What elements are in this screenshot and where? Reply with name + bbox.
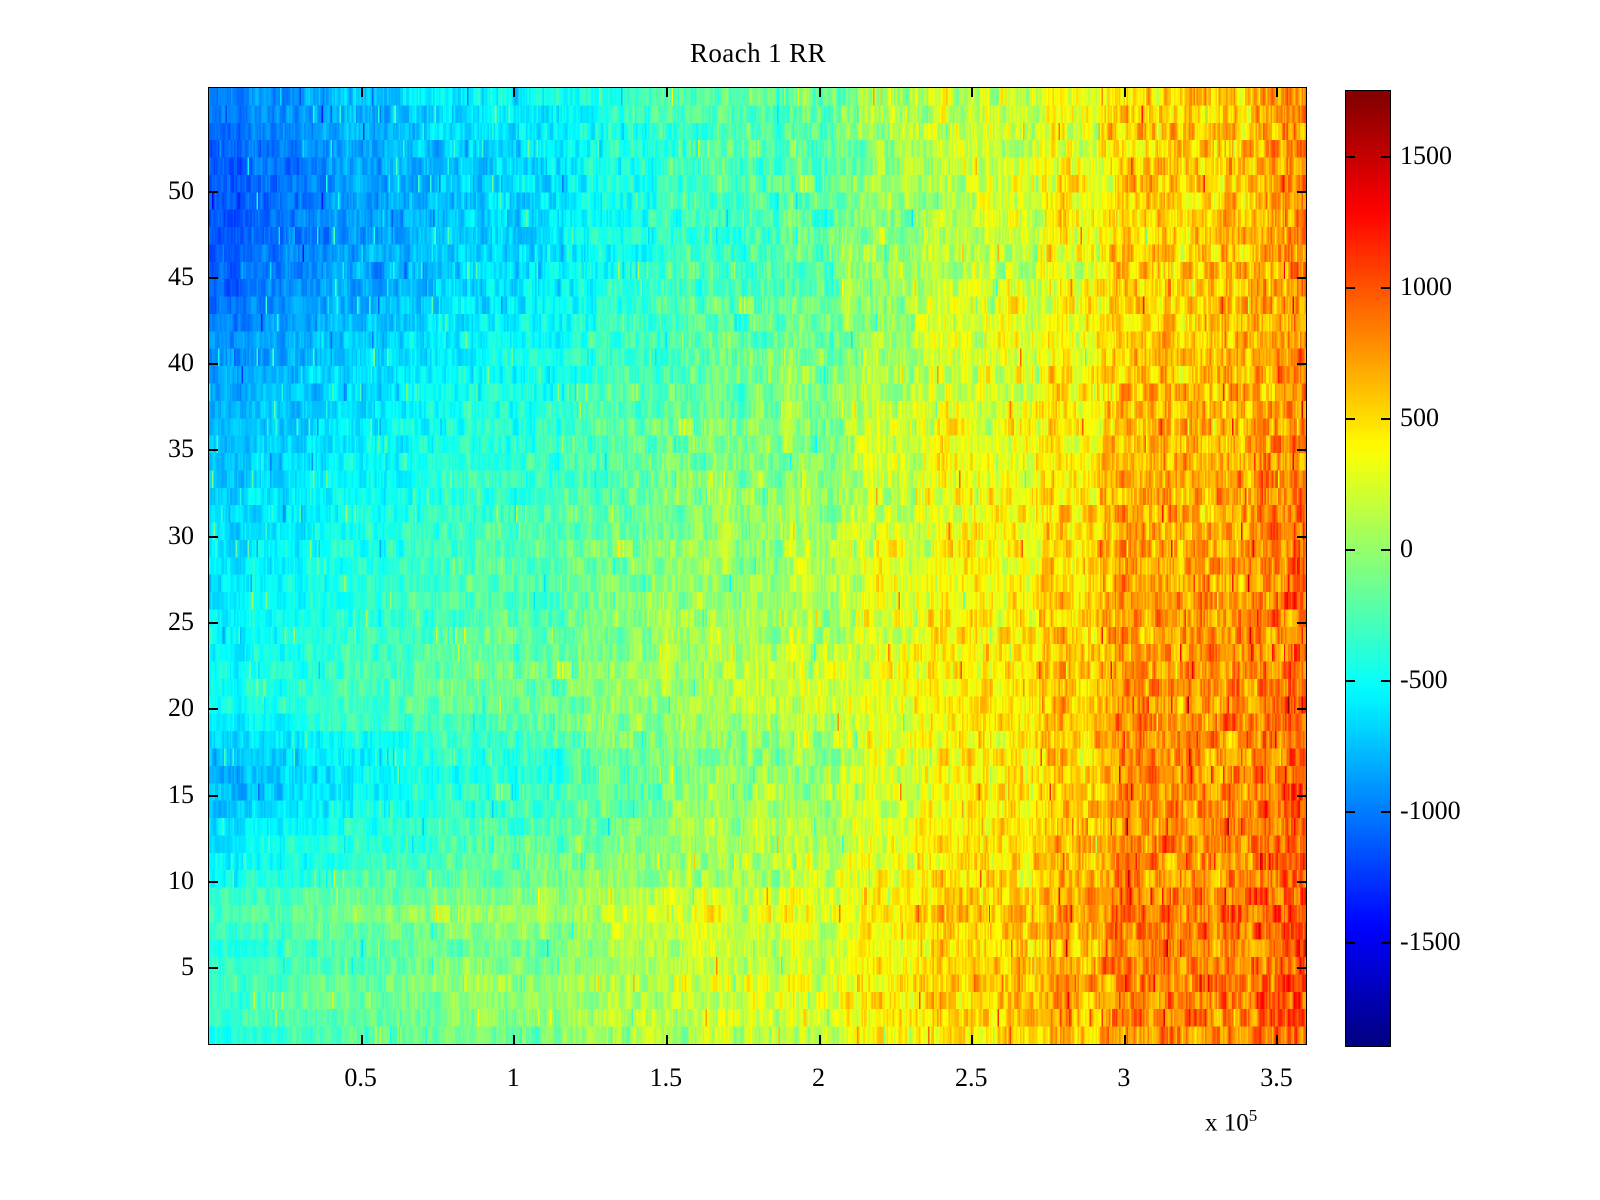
colorbar-tick-mark: [1346, 680, 1355, 682]
y-axis-tick-mark-right: [1297, 277, 1307, 279]
y-axis-tick-mark: [208, 449, 218, 451]
colorbar-tick-mark: [1346, 418, 1355, 420]
colorbar-tick-mark: [1346, 549, 1355, 551]
colorbar-tick-mark: [1346, 811, 1355, 813]
x-axis-tick-mark-top: [666, 87, 668, 97]
colorbar-tick-label: 1000: [1400, 272, 1452, 302]
x-axis-tick-mark-top: [1276, 87, 1278, 97]
colorbar-tick-mark: [1346, 156, 1355, 158]
x-axis-tick-mark: [513, 1035, 515, 1045]
x-axis-tick-mark-top: [971, 87, 973, 97]
y-axis-tick-mark-right: [1297, 191, 1307, 193]
x-axis-tick-label: 1.5: [606, 1063, 726, 1093]
x-axis-tick-mark-top: [361, 87, 363, 97]
colorbar-tick-mark-right: [1381, 418, 1390, 420]
y-axis-tick-mark-right: [1297, 622, 1307, 624]
page-title: Roach 1 RR: [208, 38, 1308, 69]
y-axis-tick-mark-right: [1297, 449, 1307, 451]
colorbar-tick-label: 1500: [1400, 141, 1452, 171]
x-axis-tick-mark-top: [1124, 87, 1126, 97]
y-axis-tick-label: 5: [124, 952, 194, 982]
x-axis-tick-label: 2: [759, 1063, 879, 1093]
y-axis-tick-mark-right: [1297, 708, 1307, 710]
x-exponent-power: 5: [1249, 1106, 1258, 1125]
x-axis-tick-mark-top: [513, 87, 515, 97]
x-axis-tick-mark: [666, 1035, 668, 1045]
y-axis-tick-mark: [208, 363, 218, 365]
colorbar-tick-mark-right: [1381, 156, 1390, 158]
y-axis-tick-mark-right: [1297, 795, 1307, 797]
x-axis-exponent-label: x 105: [1205, 1106, 1257, 1137]
y-axis-tick-label: 35: [124, 434, 194, 464]
y-axis-tick-label: 15: [124, 780, 194, 810]
y-axis-tick-mark: [208, 881, 218, 883]
y-axis-tick-mark-right: [1297, 536, 1307, 538]
x-axis-tick-mark: [1276, 1035, 1278, 1045]
y-axis-tick-mark-right: [1297, 967, 1307, 969]
heatmap-image: [209, 88, 1306, 1044]
x-axis-tick-label: 2.5: [911, 1063, 1031, 1093]
x-axis-tick-mark: [1124, 1035, 1126, 1045]
x-axis-tick-mark: [819, 1035, 821, 1045]
x-axis-tick-mark: [361, 1035, 363, 1045]
y-axis-tick-mark-right: [1297, 881, 1307, 883]
colorbar-tick-mark-right: [1381, 942, 1390, 944]
colorbar-tick-label: -500: [1400, 665, 1448, 695]
colorbar-tick-mark-right: [1381, 680, 1390, 682]
x-axis-tick-mark-top: [819, 87, 821, 97]
x-axis-tick-label: 1: [453, 1063, 573, 1093]
y-axis-tick-mark: [208, 191, 218, 193]
colorbar-tick-mark-right: [1381, 811, 1390, 813]
colorbar[interactable]: [1345, 90, 1391, 1047]
colorbar-gradient: [1346, 91, 1390, 1046]
colorbar-tick-label: -1500: [1400, 927, 1461, 957]
figure-canvas: Roach 1 RR 51015202530354045500.511.522.…: [0, 0, 1600, 1200]
y-axis-tick-mark: [208, 536, 218, 538]
y-axis-tick-label: 40: [124, 348, 194, 378]
y-axis-tick-label: 45: [124, 262, 194, 292]
x-axis-tick-label: 3: [1064, 1063, 1184, 1093]
y-axis-tick-mark: [208, 795, 218, 797]
colorbar-tick-mark-right: [1381, 287, 1390, 289]
y-axis-tick-mark-right: [1297, 363, 1307, 365]
colorbar-tick-mark: [1346, 287, 1355, 289]
x-exponent-mantissa: x 10: [1205, 1109, 1249, 1136]
y-axis-tick-label: 50: [124, 176, 194, 206]
colorbar-tick-label: -1000: [1400, 796, 1461, 826]
y-axis-tick-mark: [208, 277, 218, 279]
y-axis-tick-label: 25: [124, 607, 194, 637]
colorbar-tick-label: 500: [1400, 403, 1439, 433]
colorbar-tick-label: 0: [1400, 534, 1413, 564]
y-axis-tick-label: 20: [124, 693, 194, 723]
heatmap-plot-area[interactable]: [208, 87, 1307, 1045]
x-axis-tick-label: 3.5: [1216, 1063, 1336, 1093]
x-axis-tick-mark: [971, 1035, 973, 1045]
y-axis-tick-mark: [208, 967, 218, 969]
y-axis-tick-label: 10: [124, 866, 194, 896]
y-axis-tick-mark: [208, 622, 218, 624]
colorbar-tick-mark-right: [1381, 549, 1390, 551]
y-axis-tick-label: 30: [124, 521, 194, 551]
x-axis-tick-label: 0.5: [301, 1063, 421, 1093]
colorbar-tick-mark: [1346, 942, 1355, 944]
y-axis-tick-mark: [208, 708, 218, 710]
